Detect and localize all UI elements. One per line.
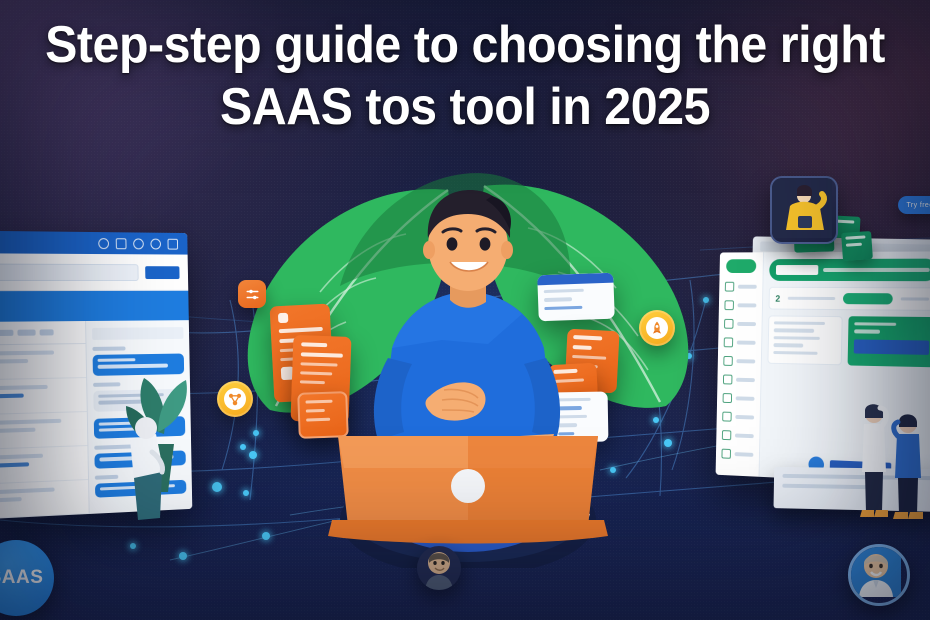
chat-icon (723, 356, 732, 366)
avatar-bottom-right[interactable] (848, 544, 910, 606)
person-badge-card[interactable] (770, 176, 838, 244)
sidebar-item[interactable] (723, 356, 755, 366)
table-header (0, 321, 85, 345)
network-node (249, 451, 257, 459)
sidebar-item-label (736, 397, 755, 401)
window-titlebar (0, 231, 188, 255)
sidebar-item-label (738, 285, 757, 288)
sidebar-item[interactable] (724, 300, 756, 310)
sidebar-item-label (735, 452, 754, 456)
menu-icon[interactable] (167, 238, 178, 249)
sidebar-item-label (737, 341, 756, 345)
rocket-badge[interactable] (639, 310, 675, 346)
sidebar-item[interactable] (722, 412, 754, 423)
sidebar-item-label (736, 359, 755, 363)
chat-timestamp (92, 346, 125, 350)
app-logo (726, 259, 756, 273)
title-line-1: Step-step guide to choosing the right (33, 14, 898, 76)
sidebar[interactable] (716, 252, 764, 477)
cart-icon[interactable] (116, 238, 127, 249)
sidebar-item-label (735, 415, 754, 419)
dashboard-icon (725, 282, 735, 292)
network-node (664, 439, 672, 447)
bag-icon (722, 412, 731, 422)
sidebar-item[interactable] (723, 375, 755, 386)
sidebar-item[interactable] (724, 337, 756, 347)
rocket-icon (649, 320, 665, 336)
sidebar-item[interactable] (723, 393, 755, 404)
chart-icon (724, 300, 734, 310)
network-node (179, 552, 187, 560)
bell-icon[interactable] (133, 238, 144, 249)
stats-row: 2 (769, 287, 930, 311)
person-right-2-illustration (888, 408, 928, 520)
try-free-button[interactable]: Try free (898, 196, 930, 214)
page-title: Step-step guide to choosing the right SA… (0, 14, 930, 138)
users-icon (724, 319, 733, 329)
network-node (130, 543, 136, 549)
network-node (240, 444, 246, 450)
table-row[interactable] (0, 446, 88, 484)
banner-tag (776, 265, 818, 275)
highlight-bar (854, 339, 929, 354)
promo-banner[interactable] (769, 259, 930, 282)
calendar-icon (724, 337, 733, 347)
table-row[interactable] (0, 412, 87, 450)
sidebar-item-label (737, 322, 756, 326)
network-node (262, 532, 270, 540)
sliders-icon-badge[interactable] (238, 280, 266, 308)
stat-value: 2 (775, 293, 780, 303)
share-nodes-badge[interactable] (217, 381, 253, 417)
sidebar-item-label (735, 434, 754, 438)
sidebar-item-label (738, 304, 757, 307)
status-pill[interactable] (843, 293, 893, 304)
share-nodes-icon (227, 391, 243, 407)
saas-logo-label: SAAS (0, 567, 43, 589)
person-yellow-illustration (772, 178, 832, 238)
person-right-1-illustration (856, 398, 892, 518)
table-row[interactable] (0, 344, 86, 380)
search-bar (0, 253, 188, 291)
sidebar-item[interactable] (724, 319, 756, 329)
sliders-icon (245, 287, 260, 302)
settings-icon (722, 430, 731, 440)
section-header-band (0, 291, 189, 322)
green-feature-card[interactable] (848, 316, 930, 367)
user-icon[interactable] (150, 238, 161, 249)
green-note-card[interactable] (841, 231, 873, 261)
title-line-2: SAAS tos tool in 2025 (33, 76, 898, 138)
person-left-illustration (112, 400, 170, 520)
data-table[interactable] (0, 321, 90, 519)
avatar-bottom-center[interactable] (417, 546, 461, 590)
primary-action-button[interactable] (145, 266, 179, 279)
folder-icon (723, 375, 732, 385)
banner-text (823, 268, 930, 272)
network-node (212, 482, 222, 492)
sidebar-item-label (736, 378, 755, 382)
magnifier-icon[interactable] (98, 238, 109, 249)
chat-header (92, 327, 183, 340)
table-row[interactable] (0, 480, 89, 519)
sidebar-item[interactable] (721, 449, 753, 460)
person-with-laptop-illustration (292, 168, 642, 568)
tag-icon (723, 393, 732, 403)
chat-timestamp (93, 382, 120, 387)
table-row[interactable] (0, 378, 87, 415)
card-row (767, 315, 930, 367)
hero-banner-canvas: 2 (0, 0, 930, 620)
sidebar-item[interactable] (722, 430, 754, 441)
sidebar-item[interactable] (725, 282, 757, 292)
search-input[interactable] (0, 263, 139, 280)
try-free-label: Try free (906, 202, 930, 209)
file-icon (721, 449, 730, 459)
network-node (253, 430, 259, 436)
avatar (417, 546, 461, 590)
network-node (703, 297, 709, 303)
avatar (851, 547, 901, 597)
detail-card[interactable] (767, 315, 842, 365)
network-node (243, 490, 249, 496)
